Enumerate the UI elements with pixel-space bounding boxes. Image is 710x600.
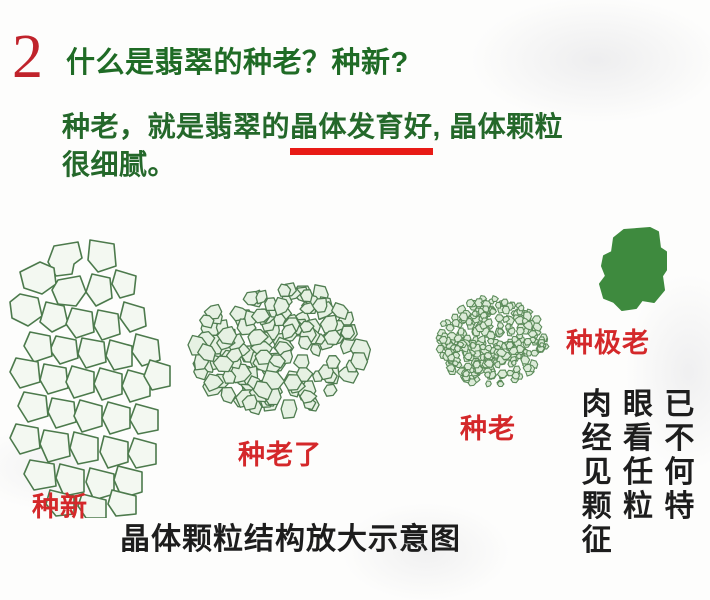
note-char: 征 bbox=[576, 524, 617, 558]
label-seed-old: 种老 bbox=[460, 414, 516, 444]
crystal-grain bbox=[452, 361, 458, 366]
crystal-grain bbox=[485, 372, 491, 378]
crystal-grain bbox=[497, 370, 507, 378]
crystal-grain bbox=[502, 306, 509, 314]
slide-page: 2 什么是翡翠的种老？种新? 种老，就是翡翠的晶体发育好, 晶体颗粒 很细腻。 bbox=[0, 0, 710, 600]
note-char: 粒 bbox=[617, 490, 658, 524]
page-title: 什么是翡翠的种老？种新? bbox=[66, 45, 409, 81]
naked-eye-note: 肉眼已经看不见任何颗粒特征 bbox=[576, 388, 700, 558]
crystal-grain bbox=[294, 355, 309, 369]
crystal-grain bbox=[326, 356, 340, 369]
crystal-grain bbox=[495, 302, 500, 308]
diagram-caption: 晶体颗粒结构放大示意图 bbox=[120, 522, 461, 558]
crystal-grain bbox=[281, 400, 297, 418]
note-char: 经 bbox=[576, 422, 617, 456]
crystal-grain bbox=[440, 321, 446, 327]
crystal-grain bbox=[324, 384, 337, 396]
crystal-grain bbox=[311, 345, 321, 357]
crystal-grain bbox=[498, 323, 504, 329]
label-seed-old-done: 种老了 bbox=[238, 440, 322, 470]
crystal-grain bbox=[458, 328, 464, 335]
crystal-grain bbox=[512, 360, 517, 365]
definition-prefix: 种老，就是翡翠的 bbox=[62, 111, 290, 142]
definition-suffix: , 晶体颗粒 bbox=[433, 111, 564, 142]
note-char: 见 bbox=[576, 456, 617, 490]
fine-crystal-cluster bbox=[432, 292, 552, 397]
crystal-grain bbox=[464, 363, 472, 370]
note-char: 何 bbox=[659, 456, 700, 490]
crystal-grain bbox=[512, 373, 520, 379]
crystal-grain bbox=[473, 361, 480, 368]
label-seed-very-old: 种极老 bbox=[566, 328, 650, 358]
note-char: 颗 bbox=[576, 490, 617, 524]
note-char: 肉 bbox=[576, 388, 617, 422]
crystal-grain bbox=[497, 381, 504, 386]
crystal-grain bbox=[498, 329, 504, 335]
coarse-crystal-cluster bbox=[2, 218, 178, 523]
crystal-grain bbox=[495, 361, 501, 367]
crystal-grain bbox=[540, 343, 545, 347]
crystal-grain bbox=[492, 296, 498, 302]
crystal-grain bbox=[484, 353, 492, 359]
section-number: 2 bbox=[12, 26, 43, 88]
note-char: 任 bbox=[617, 456, 658, 490]
note-char: 看 bbox=[617, 422, 658, 456]
crystal-grain bbox=[488, 339, 494, 344]
crystal-grain bbox=[521, 356, 530, 364]
note-char: 不 bbox=[659, 422, 700, 456]
crystal-grain bbox=[446, 325, 454, 332]
crystal-grain bbox=[486, 381, 492, 387]
note-char: 特 bbox=[659, 490, 700, 524]
crystal-grain bbox=[495, 315, 504, 322]
crystal-grain bbox=[472, 311, 477, 317]
note-char: 已 bbox=[659, 388, 700, 422]
crystal-grain bbox=[471, 342, 477, 348]
medium-crystal-cluster bbox=[184, 264, 374, 439]
solid-crystal-blob bbox=[580, 218, 684, 327]
definition-text: 种老，就是翡翠的晶体发育好, 晶体颗粒 很细腻。 bbox=[62, 108, 698, 184]
crystal-grain bbox=[274, 314, 286, 326]
crystal-grain bbox=[505, 324, 510, 329]
crystal-grain bbox=[341, 326, 354, 339]
crystal-grain bbox=[436, 346, 443, 353]
crystal-grain bbox=[524, 338, 532, 345]
definition-highlight: 晶体发育好 bbox=[290, 108, 433, 146]
label-seed-new: 种新 bbox=[32, 492, 88, 522]
note-char: 眼 bbox=[617, 388, 658, 422]
crystal-grain bbox=[532, 316, 541, 323]
crystal-grain bbox=[527, 351, 532, 357]
crystal-grain bbox=[528, 331, 537, 337]
